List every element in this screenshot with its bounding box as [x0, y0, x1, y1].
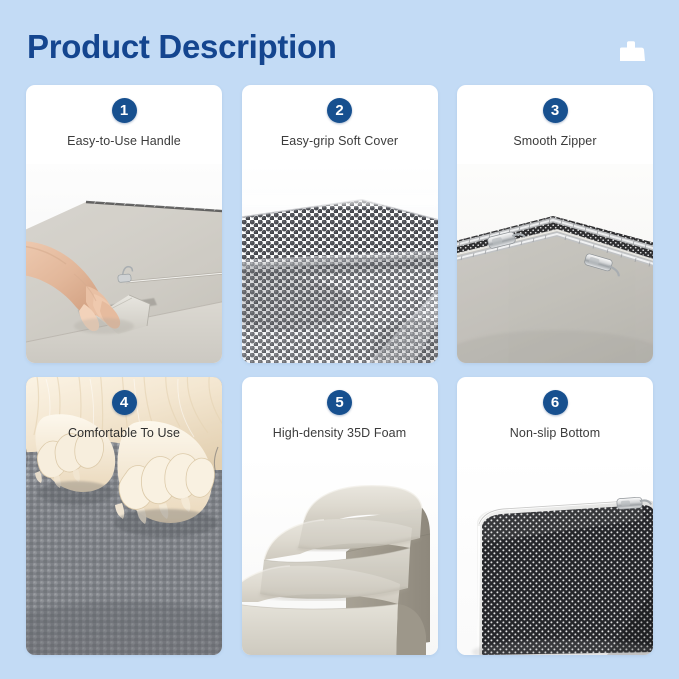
- stairs-icon: [617, 38, 647, 62]
- step-badge: 6: [543, 390, 568, 415]
- product-description-infographic: Product Description 1 Easy-to-Use Handle: [0, 0, 679, 679]
- header: Product Description: [0, 0, 679, 85]
- card-label: Smooth Zipper: [513, 134, 596, 148]
- zipper-photo: [457, 164, 653, 363]
- feature-card-2[interactable]: 2 Easy-grip Soft Cover: [242, 85, 438, 363]
- step-badge: 4: [112, 390, 137, 415]
- feature-card-5[interactable]: 5 High-density 35D Foam: [242, 377, 438, 655]
- card-header: 3 Smooth Zipper: [457, 85, 653, 164]
- foam-stairs-photo: [242, 456, 438, 655]
- page-title: Product Description: [27, 27, 337, 67]
- feature-card-6[interactable]: 6 Non-slip Bottom: [457, 377, 653, 655]
- card-header: 1 Easy-to-Use Handle: [26, 85, 222, 164]
- chenille-fabric-photo: [242, 164, 438, 363]
- step-badge: 2: [327, 98, 352, 123]
- card-label: Comfortable To Use: [68, 426, 180, 440]
- feature-card-3[interactable]: 3 Smooth Zipper: [457, 85, 653, 363]
- card-header: 4 Comfortable To Use: [26, 377, 222, 456]
- card-label: Non-slip Bottom: [510, 426, 600, 440]
- step-badge: 1: [112, 98, 137, 123]
- card-label: Easy-to-Use Handle: [67, 134, 181, 148]
- card-header: 6 Non-slip Bottom: [457, 377, 653, 456]
- card-label: High-density 35D Foam: [273, 426, 406, 440]
- feature-card-4[interactable]: 4 Comfortable To Use: [26, 377, 222, 655]
- feature-card-1[interactable]: 1 Easy-to-Use Handle: [26, 85, 222, 363]
- step-badge: 5: [327, 390, 352, 415]
- non-slip-bottom-photo: [457, 456, 653, 655]
- card-label: Easy-grip Soft Cover: [281, 134, 398, 148]
- feature-card-grid: 1 Easy-to-Use Handle: [26, 85, 653, 655]
- card-header: 2 Easy-grip Soft Cover: [242, 85, 438, 164]
- handle-photo: [26, 164, 222, 363]
- card-header: 5 High-density 35D Foam: [242, 377, 438, 456]
- step-badge: 3: [543, 98, 568, 123]
